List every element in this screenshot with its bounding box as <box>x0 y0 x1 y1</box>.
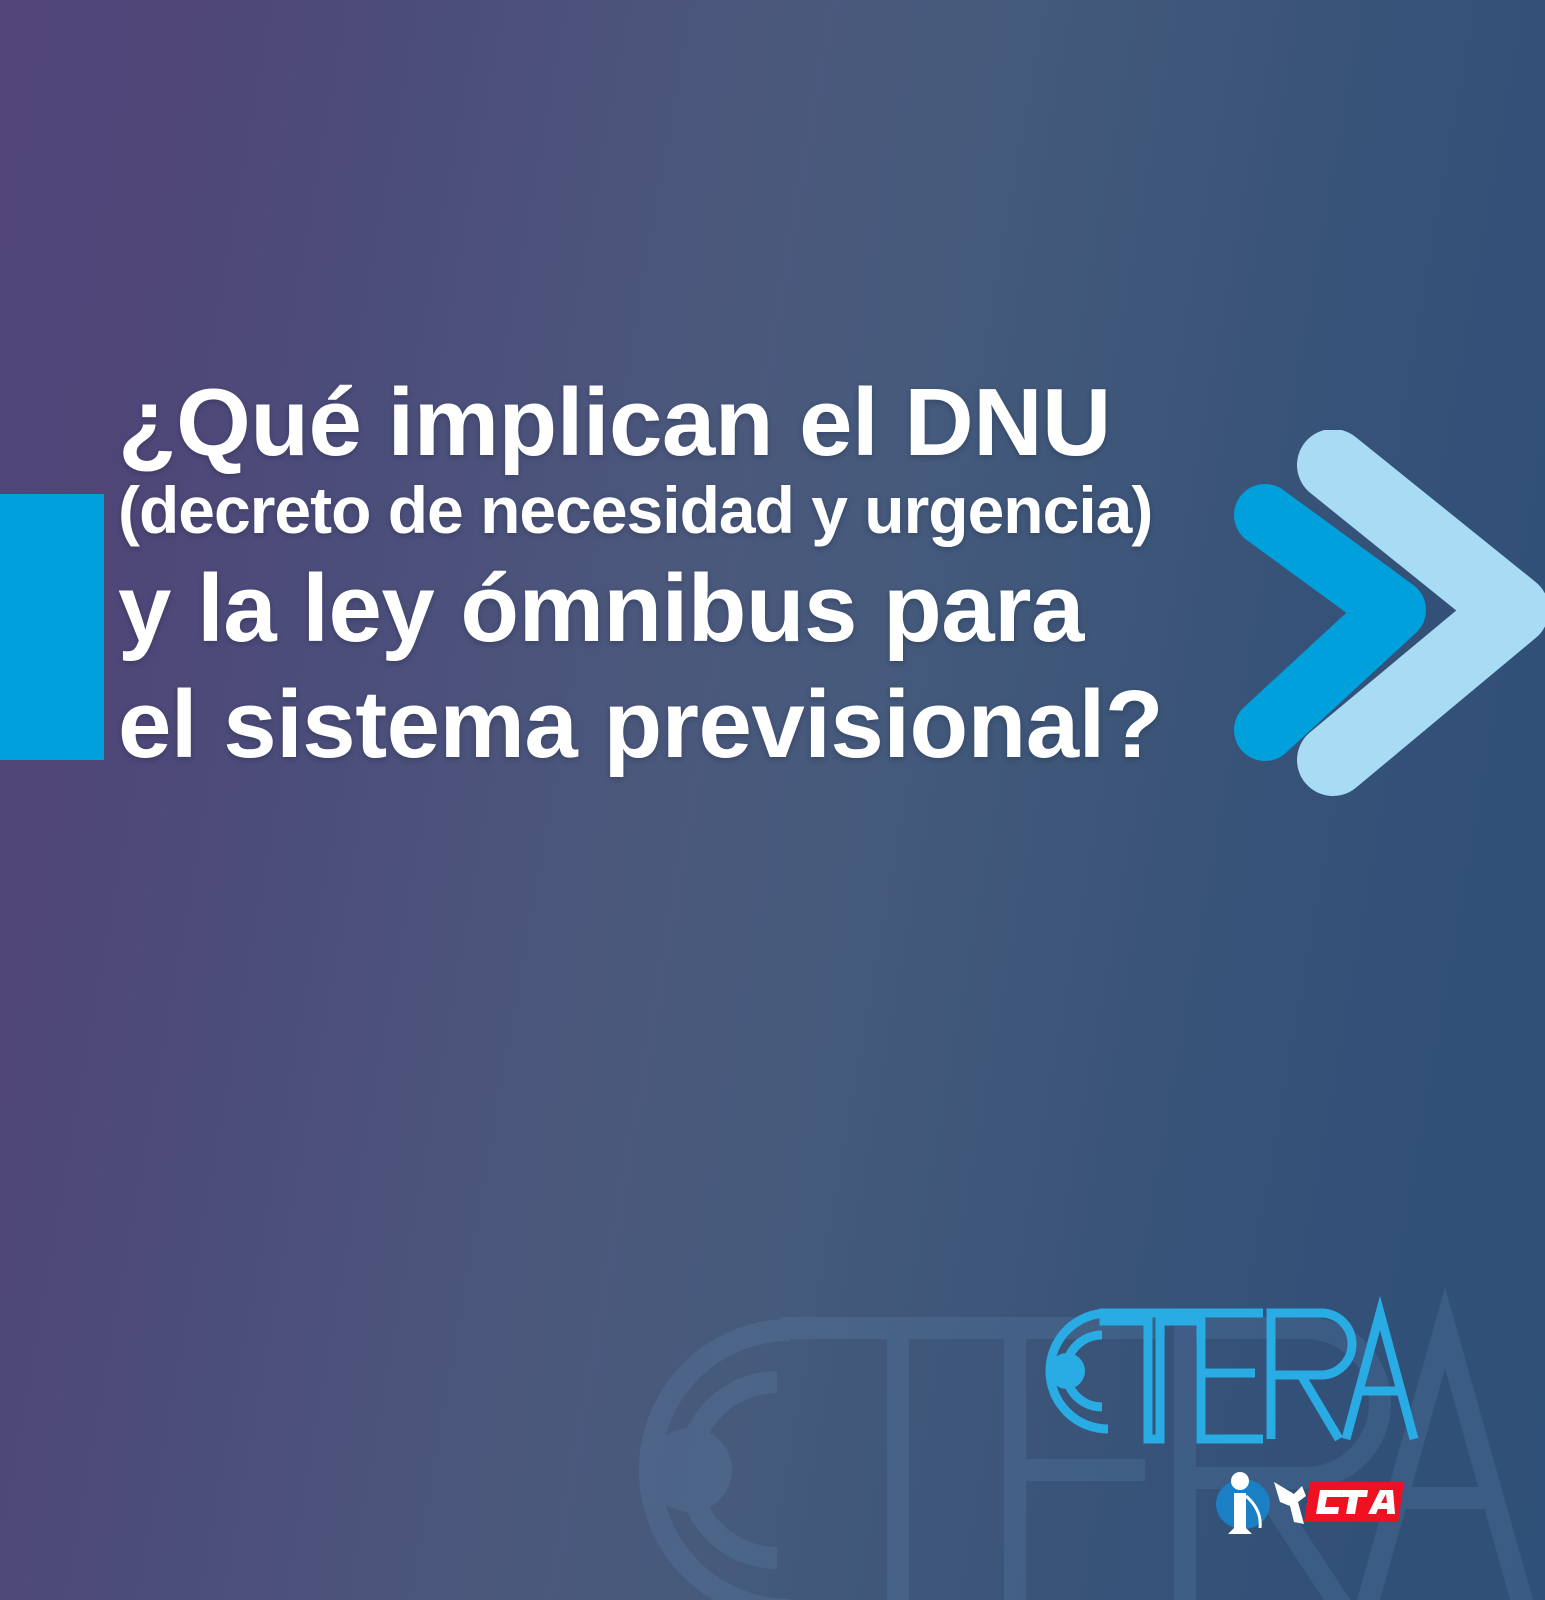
ctera-logo-icon <box>1005 1295 1425 1460</box>
cta-logo-block <box>1212 1463 1412 1541</box>
headline-block: ¿Qué implican el DNU (decreto de necesid… <box>118 375 1388 773</box>
accent-bar-shape <box>0 494 104 760</box>
headline-line-3: y la ley ómnibus para <box>118 561 1388 657</box>
headline-line-4: el sistema previsional? <box>118 677 1388 773</box>
poster-canvas: ¿Qué implican el DNU (decreto de necesid… <box>0 0 1545 1600</box>
headline-line-2: (decreto de necesidad y urgencia) <box>118 477 1388 543</box>
headline-line-1: ¿Qué implican el DNU <box>118 375 1388 471</box>
cta-logo-icon <box>1272 1472 1404 1532</box>
person-i-icon <box>1212 1466 1274 1538</box>
